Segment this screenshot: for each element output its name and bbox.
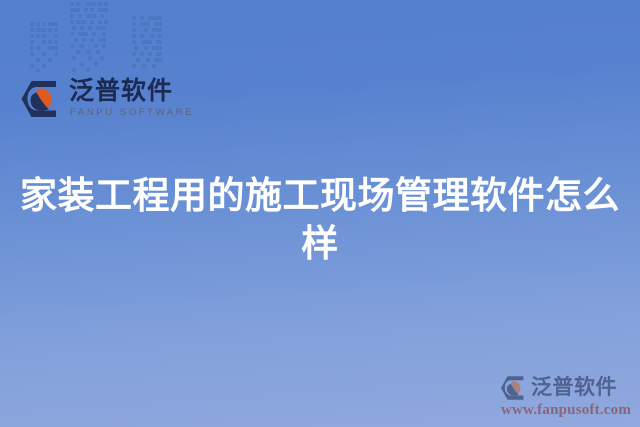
page-title: 家装工程用的施工现场管理软件怎么样 bbox=[0, 172, 640, 268]
fanpu-logo: 泛普软件 FANPU SOFTWARE bbox=[20, 78, 194, 119]
watermark: 泛普软件 www.fanpusoft.com bbox=[500, 375, 632, 419]
fanpu-logo-mark-icon bbox=[20, 79, 60, 119]
logo-english-name: FANPU SOFTWARE bbox=[70, 107, 194, 119]
promo-banner: 泛普软件 FANPU SOFTWARE 家装工程用的施工现场管理软件怎么样 泛普… bbox=[0, 0, 640, 427]
watermark-url: www.fanpusoft.com bbox=[500, 402, 632, 419]
watermark-chinese-name: 泛普软件 bbox=[531, 376, 617, 400]
pixel-matrix-decoration bbox=[28, 0, 178, 72]
watermark-logo-mark-icon bbox=[500, 375, 526, 401]
watermark-logo-row: 泛普软件 bbox=[500, 375, 632, 401]
logo-chinese-name: 泛普软件 bbox=[69, 78, 194, 105]
